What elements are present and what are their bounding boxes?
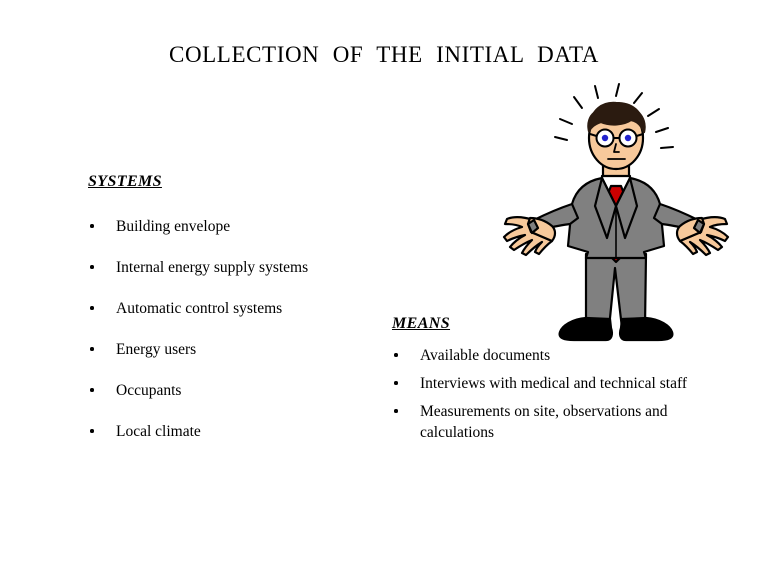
list-item-label: Available documents [420,345,692,366]
list-item-label: Internal energy supply systems [116,257,388,278]
list-item-label: Energy users [116,339,388,360]
list-item-label: Local climate [116,421,388,442]
bullet-dot-icon [394,409,398,413]
list-item-label: Building envelope [116,216,388,237]
slide-canvas: COLLECTION OF THE INITIAL DATA SYSTEMS B… [0,0,768,576]
bullet-dot-icon [394,353,398,357]
list-item: Automatic control systems [88,298,388,319]
list-item-label: Interviews with medical and technical st… [420,373,692,394]
list-item: Occupants [88,380,388,401]
list-item: Interviews with medical and technical st… [392,373,692,394]
bullet-dot-icon [90,388,94,392]
shrugging-businessman-icon [498,78,734,348]
bullet-dot-icon [90,265,94,269]
bullet-dot-icon [90,429,94,433]
bullet-dot-icon [90,306,94,310]
list-item: Available documents [392,345,692,366]
systems-section-heading: SYSTEMS [88,173,162,191]
list-item-label: Occupants [116,380,388,401]
systems-bullet-list: Building envelope Internal energy supply… [88,216,388,462]
list-item: Internal energy supply systems [88,257,388,278]
list-item: Energy users [88,339,388,360]
page-title: COLLECTION OF THE INITIAL DATA [0,42,768,68]
list-item: Local climate [88,421,388,442]
bullet-dot-icon [90,347,94,351]
bullet-dot-icon [394,381,398,385]
list-item: Building envelope [88,216,388,237]
means-section-heading: MEANS [392,315,450,333]
means-bullet-list: Available documents Interviews with medi… [392,345,692,450]
list-item: Measurements on site, observations and c… [392,401,692,443]
list-item-label: Automatic control systems [116,298,388,319]
list-item-label: Measurements on site, observations and c… [420,401,692,443]
bullet-dot-icon [90,224,94,228]
